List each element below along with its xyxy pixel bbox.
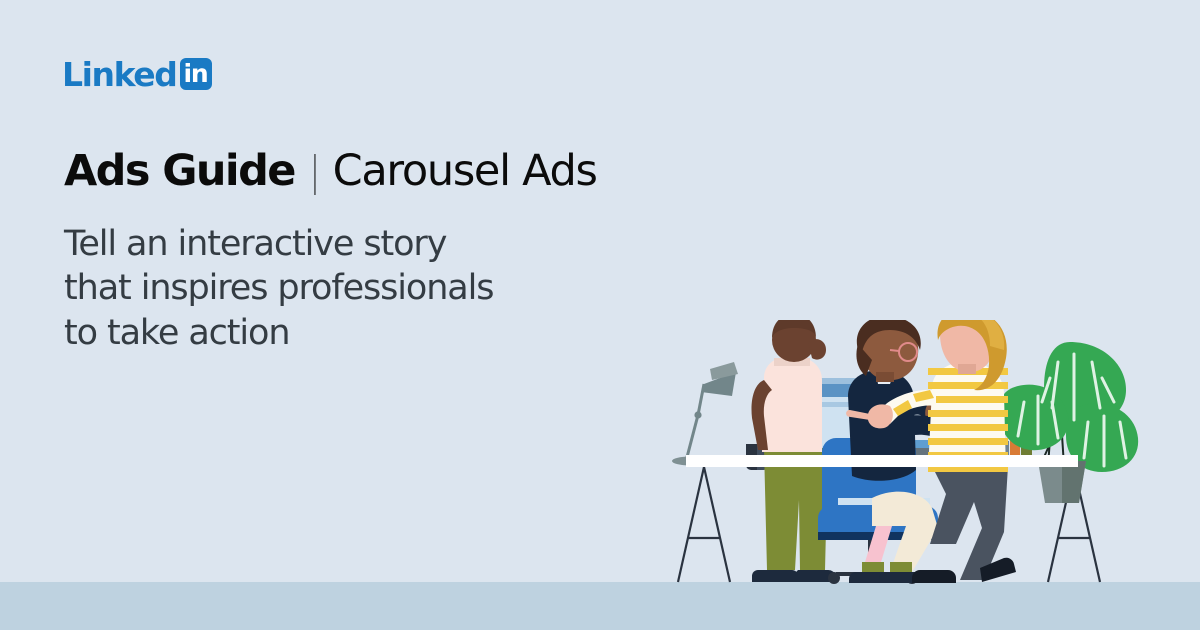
- marketing-banner: Linked in Ads Guide|Carousel Ads Tell an…: [0, 0, 1200, 630]
- office-team-illustration: [640, 320, 1200, 630]
- subtitle: Tell an interactive story that inspires …: [64, 222, 493, 355]
- desk-leg-left: [678, 467, 730, 582]
- subtitle-line-1: Tell an interactive story: [64, 222, 493, 266]
- desk-lamp-icon: [672, 362, 738, 466]
- title-separator: |: [311, 151, 319, 192]
- logo-wordmark: Linked: [62, 58, 177, 91]
- logo-badge-icon: in: [180, 58, 212, 90]
- page-title: Ads Guide|Carousel Ads: [64, 150, 597, 193]
- monstera-plant: [1000, 342, 1139, 503]
- title-primary: Ads Guide: [64, 146, 295, 196]
- illustration-floor: [640, 582, 1200, 630]
- linkedin-logo[interactable]: Linked in: [62, 56, 212, 92]
- subtitle-line-2: that inspires professionals: [64, 266, 493, 310]
- desk-surface: [686, 455, 1078, 467]
- title-secondary: Carousel Ads: [333, 146, 597, 196]
- subtitle-line-3: to take action: [64, 311, 493, 355]
